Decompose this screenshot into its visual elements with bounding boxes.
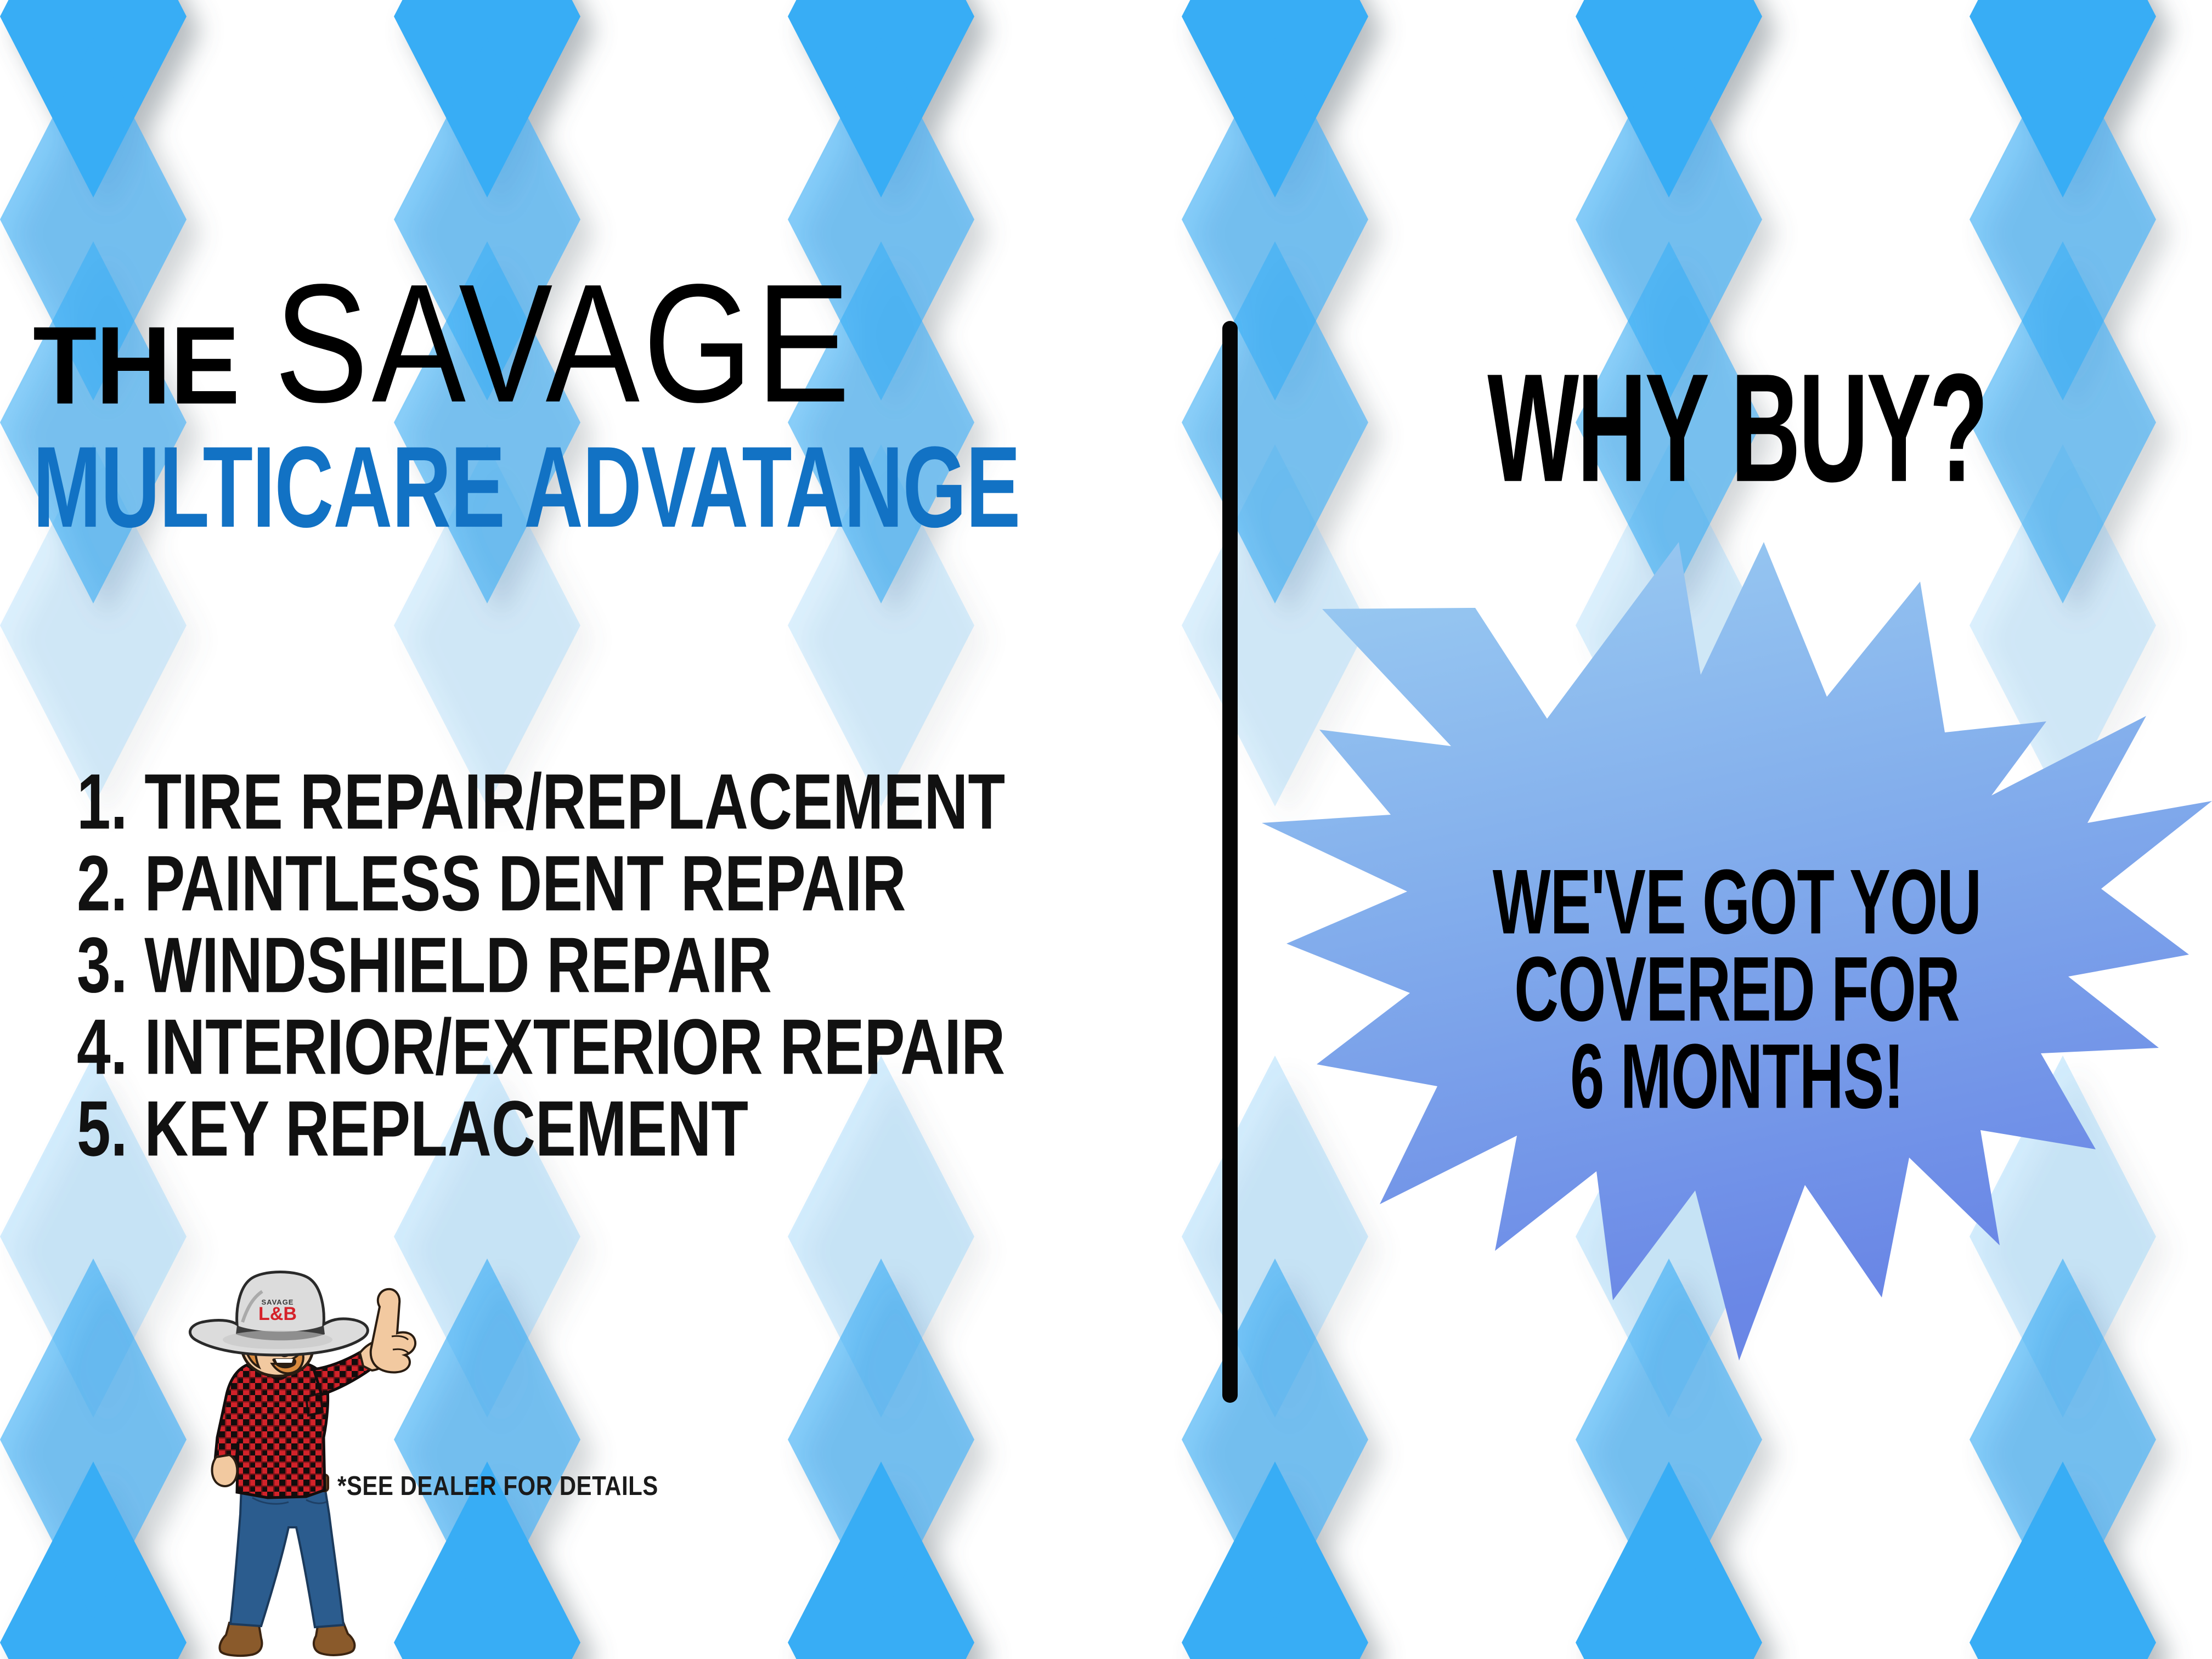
- mascot-cowboy-hat: SAVAGE L&B: [190, 1272, 368, 1356]
- list-item: 5. KEY REPLACEMENT: [77, 1090, 1136, 1168]
- burst-line-2: COVERED FOR: [1285, 946, 2188, 1033]
- headline-primary-row: THE SAVAGE: [33, 285, 1174, 411]
- vertical-divider: [1222, 321, 1238, 1403]
- cowboy-mascot-thumbs-up-icon: SAVAGE L&B: [165, 1256, 422, 1659]
- mascot-left-hand: [212, 1455, 238, 1486]
- list-item: 3. WINDSHIELD REPAIR: [77, 926, 1136, 1005]
- list-item: 2. PAINTLESS DENT REPAIR: [77, 844, 1136, 923]
- headline-block: THE SAVAGE MULTICARE ADVATANGE: [33, 285, 1174, 511]
- headline-the: THE: [33, 321, 239, 411]
- mascot-jeans: [230, 1487, 343, 1627]
- list-item: 1. TIRE REPAIR/REPLACEMENT: [77, 763, 1136, 841]
- service-list: 1. TIRE REPAIR/REPLACEMENT 2. PAINTLESS …: [77, 763, 1147, 1171]
- list-item: 4. INTERIOR/EXTERIOR REPAIR: [77, 1008, 1136, 1086]
- headline-subtitle: MULTICARE ADVATANGE: [33, 430, 1186, 545]
- burst-line-1: WE'VE GOT YOU: [1285, 859, 2188, 946]
- burst-text-block: WE'VE GOT YOU COVERED FOR 6 MONTHS!: [1285, 859, 2188, 1121]
- starburst-badge-icon: WE'VE GOT YOU COVERED FOR 6 MONTHS!: [1262, 538, 2212, 1361]
- hat-logo-lb-text: L&B: [258, 1304, 297, 1324]
- mascot-boots: [219, 1623, 354, 1656]
- headline-brand: SAVAGE: [274, 276, 854, 411]
- page-title: WHY BUY?: [1295, 351, 2179, 505]
- right-panel: WHY BUY? WE'VE GOT YOU COVERED FOR 6 MON…: [1262, 285, 2212, 1492]
- burst-line-3: 6 MONTHS!: [1285, 1033, 2188, 1120]
- flyer-canvas: THE SAVAGE MULTICARE ADVATANGE 1. TIRE R…: [0, 0, 2212, 1659]
